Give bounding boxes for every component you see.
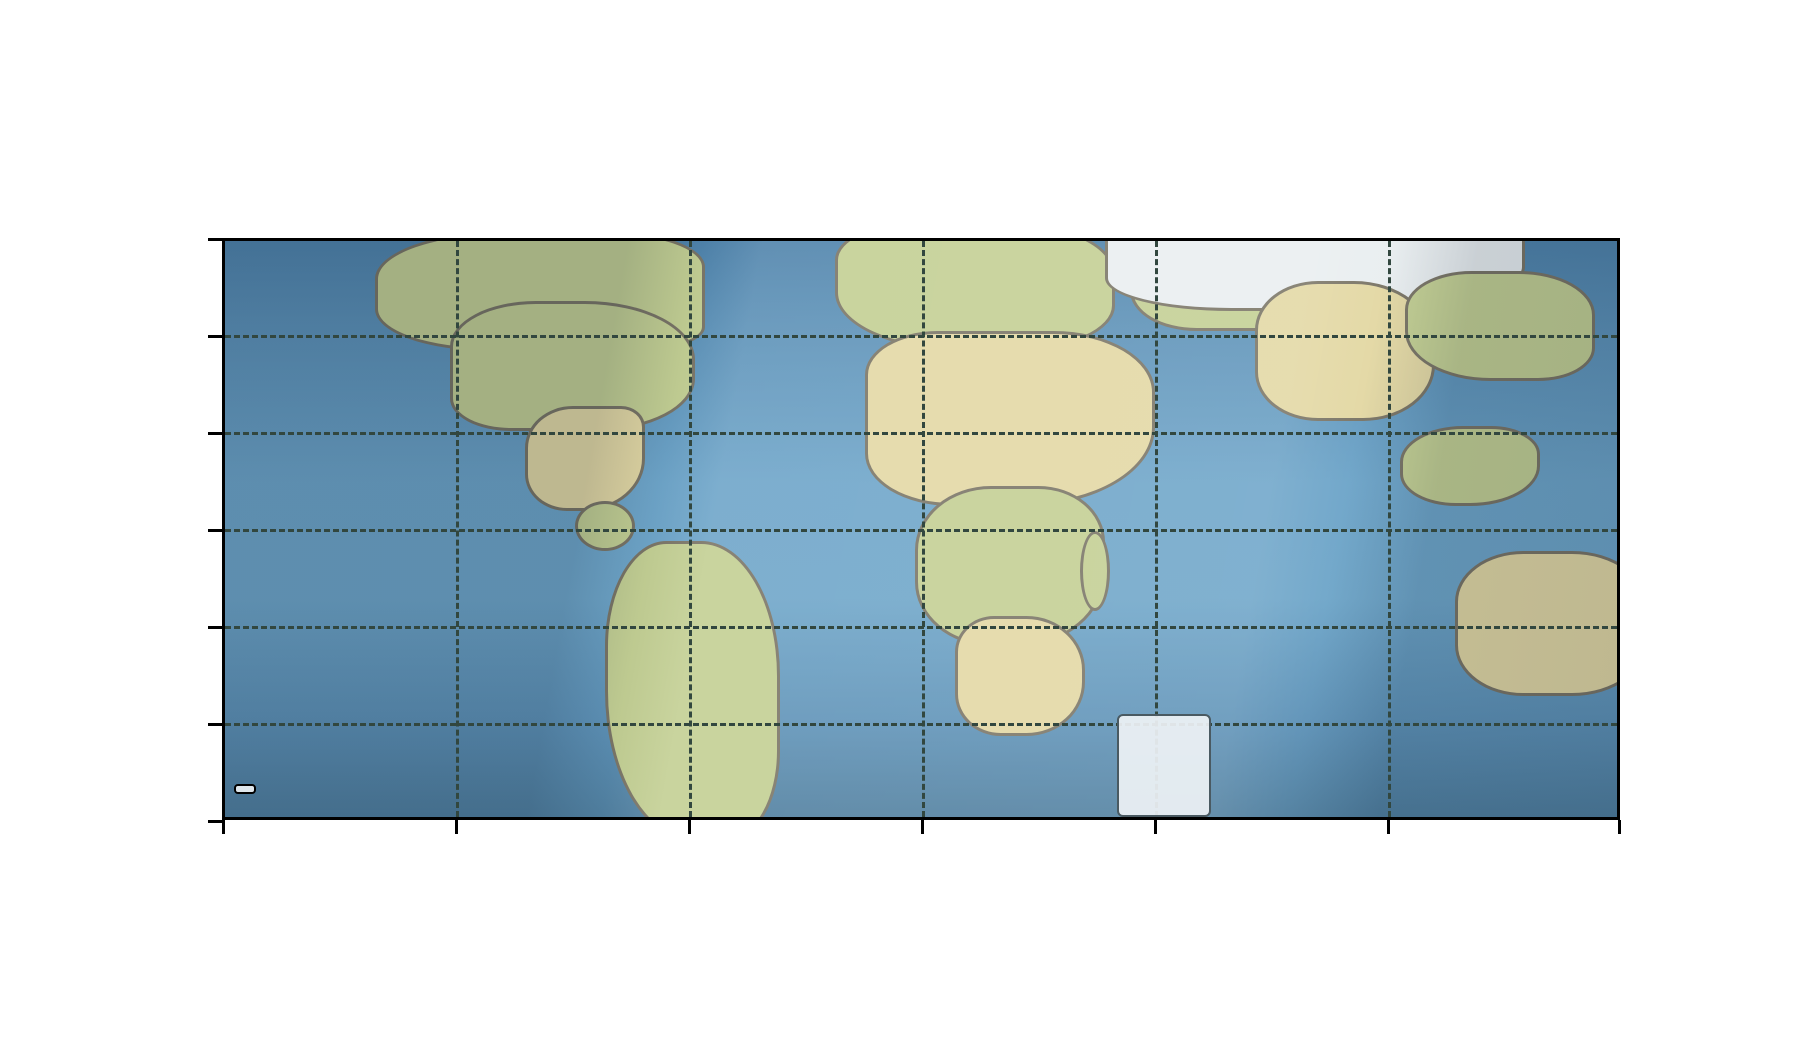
- legend-swatch-green: [1127, 726, 1183, 748]
- legend-swatch-grey: [1127, 784, 1183, 806]
- x-tick-mark: [1387, 820, 1390, 834]
- legend-item-possibly-clear: [1127, 751, 1197, 780]
- y-tick-mark: [208, 723, 222, 726]
- x-tick-mark: [455, 820, 458, 834]
- legend-item-probably-clear: [1127, 722, 1197, 751]
- x-tick-mark: [222, 820, 225, 834]
- x-tick-mark: [688, 820, 691, 834]
- legend-swatch-yellow: [1127, 755, 1183, 777]
- magnetic-equator-curves: [225, 241, 1617, 820]
- frequency-validity-note: [234, 784, 256, 794]
- y-tick-mark: [208, 529, 222, 532]
- x-tick-mark: [1154, 820, 1157, 834]
- y-tick-mark: [208, 335, 222, 338]
- y-tick-mark: [208, 626, 222, 629]
- scintillation-map-plot[interactable]: [222, 238, 1620, 820]
- legend[interactable]: [1117, 714, 1211, 817]
- y-tick-mark: [208, 238, 222, 241]
- y-tick-mark: [208, 432, 222, 435]
- y-tick-mark: [208, 820, 222, 823]
- x-tick-mark: [921, 820, 924, 834]
- x-tick-mark: [1618, 820, 1621, 834]
- legend-item-no-specification: [1127, 780, 1197, 809]
